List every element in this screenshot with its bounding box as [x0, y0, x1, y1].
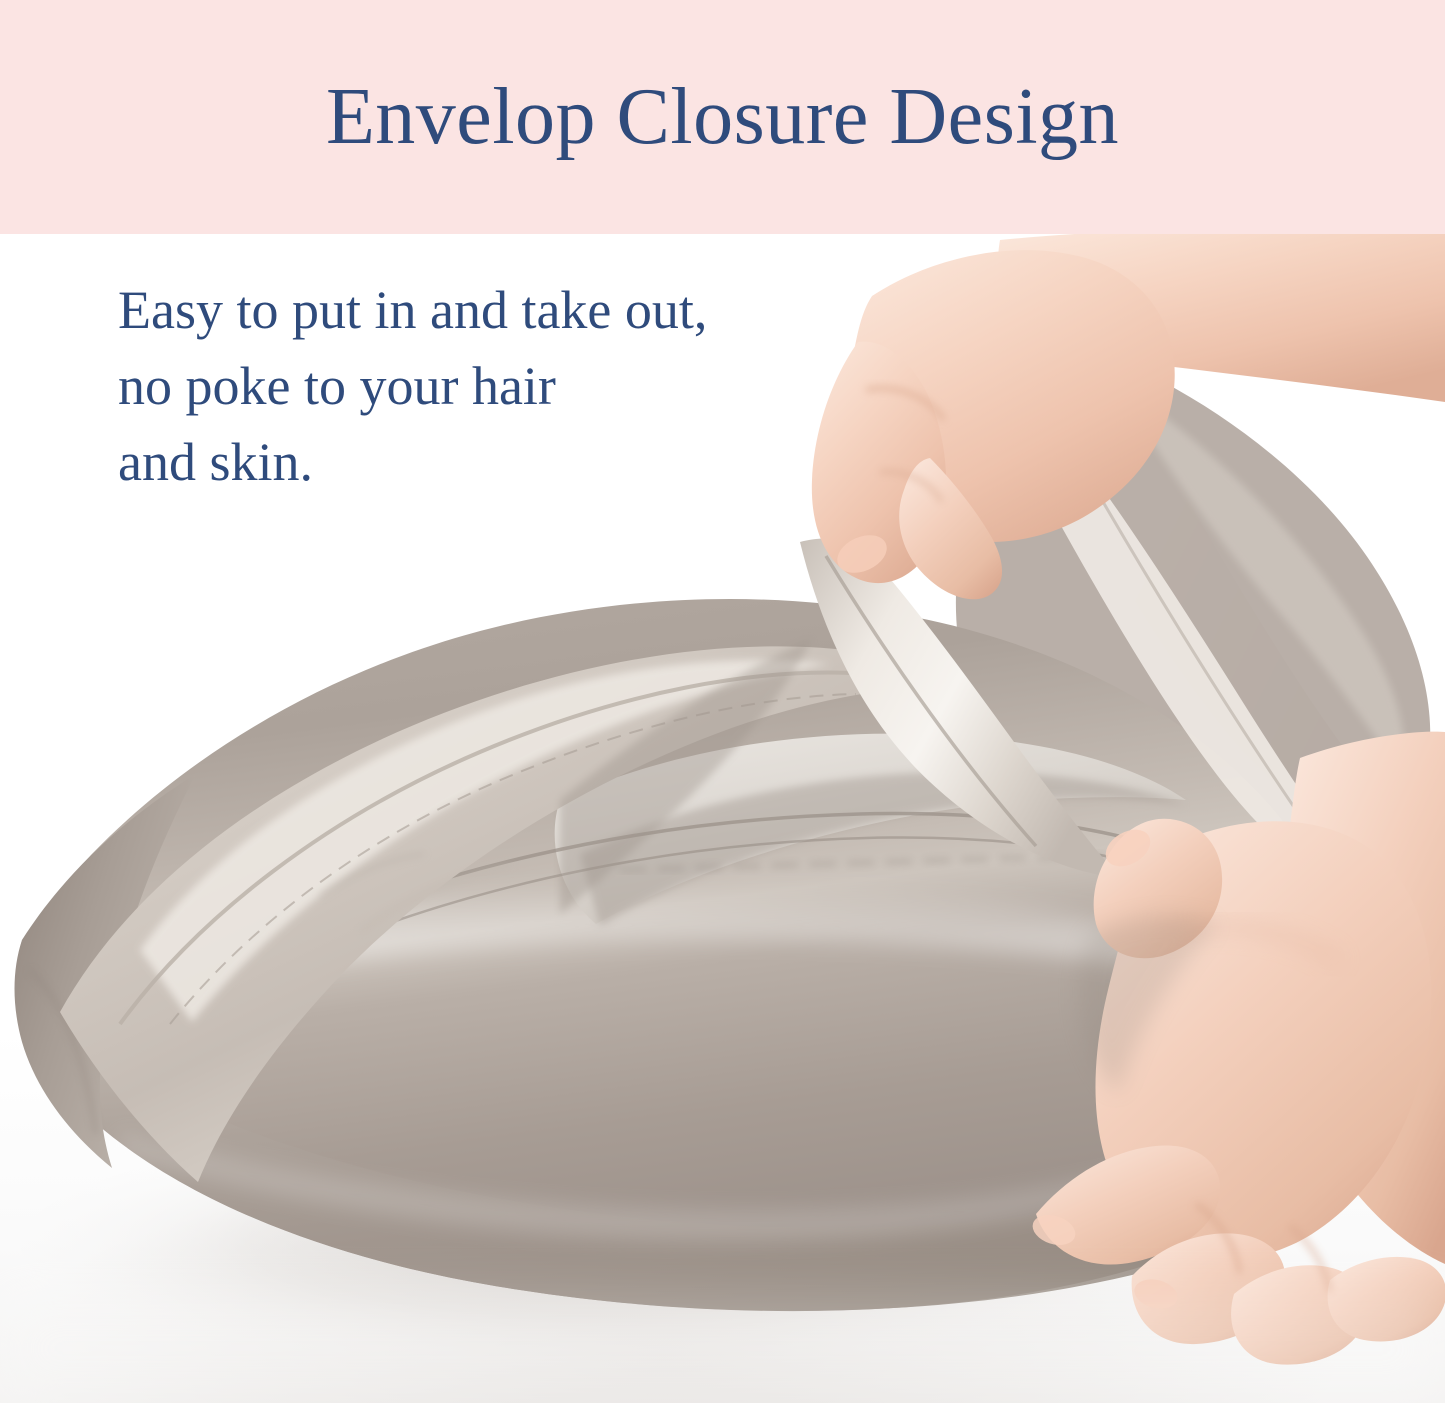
photo-bottom-fade	[0, 1294, 1445, 1403]
product-infographic: Envelop Closure Design	[0, 0, 1445, 1403]
product-photo	[0, 234, 1445, 1403]
page-title: Envelop Closure Design	[0, 0, 1445, 234]
pillowcase-illustration	[0, 234, 1445, 1403]
header-band: Envelop Closure Design	[0, 0, 1445, 234]
